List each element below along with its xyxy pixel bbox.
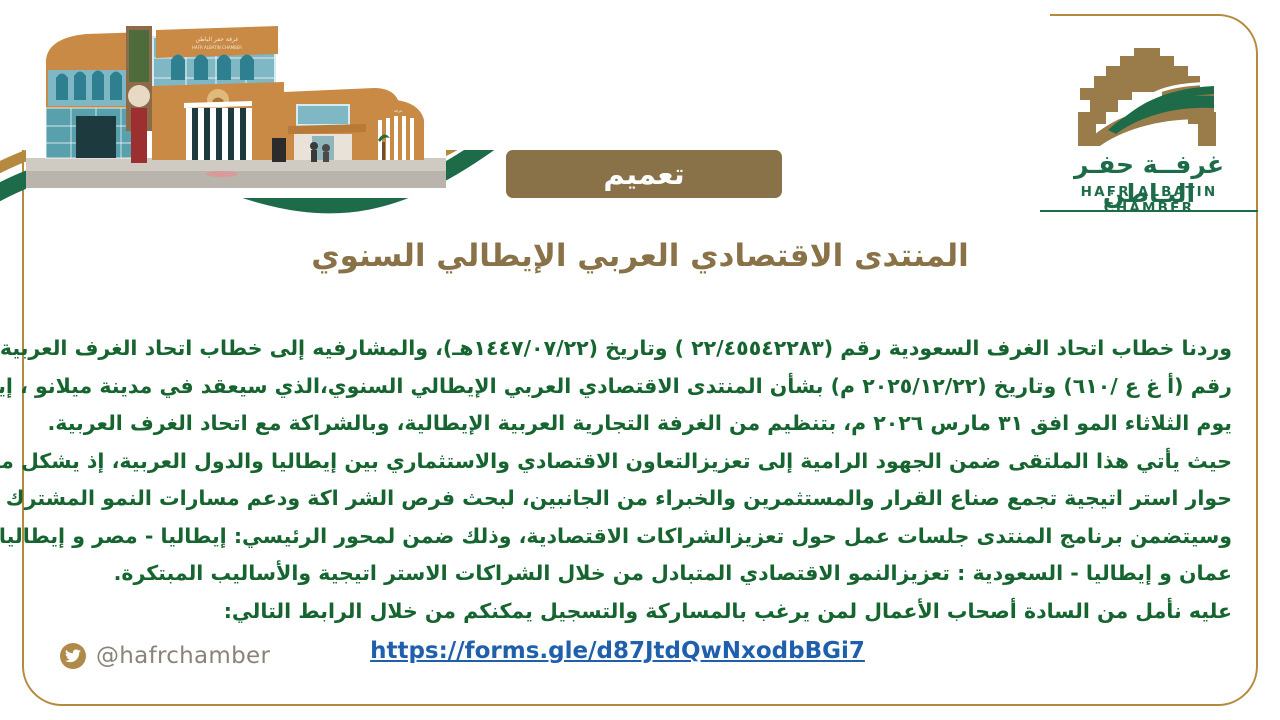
- chamber-logo-mark-icon: [1064, 42, 1234, 152]
- twitter-bird-icon: [60, 643, 86, 669]
- chamber-logo: غرفــة حفـر البـاطن HAFR ALBATIN CHAMBER: [1036, 42, 1262, 202]
- body-line: يوم الثلاثاء المو افق ٣١ مارس ٢٠٢٦ م، بت…: [48, 405, 1232, 443]
- body-line: عمان و إيطاليا - السعودية : تعزيزالنمو ا…: [48, 555, 1232, 593]
- document-body: وردنا خطاب اتحاد الغرف السعودية رقم (٢٢/…: [48, 330, 1232, 630]
- twitter-handle-text: @hafrchamber: [96, 643, 270, 669]
- svg-text:HAFR ALBATIN CHAMBER: HAFR ALBATIN CHAMBER: [192, 45, 242, 50]
- body-line: رقم (أ غ ع /٦١٠) وتاريخ (٢٠٢٥/١٢/٢٢ م) ب…: [48, 368, 1232, 406]
- body-line: عليه نأمل من السادة أصحاب الأعمال لمن ير…: [48, 593, 1232, 631]
- document-title: المنتدى الاقتصادي العربي الإيطالي السنوي: [0, 238, 1280, 274]
- circular-banner-label: تعميم: [603, 160, 684, 189]
- chamber-building-photo: غرفة حفر الباطن HAFR ALBATIN CHAMBER: [0, 0, 470, 200]
- body-line: وسيتضمن برنامج المنتدى جلسات عمل حول تعز…: [48, 518, 1232, 556]
- circular-banner: تعميم: [506, 150, 782, 198]
- chamber-logo-english-name: HAFR ALBATIN CHAMBER: [1036, 184, 1262, 216]
- svg-text:غرفة حفر الباطن: غرفة حفر الباطن: [196, 36, 239, 43]
- circular-document: غرفة حفر الباطن HAFR ALBATIN CHAMBER: [0, 0, 1280, 720]
- svg-text:غرفة: غرفة: [394, 108, 402, 113]
- twitter-handle-group[interactable]: @hafrchamber: [60, 643, 270, 669]
- body-line: حوار استر اتيجية تجمع صناع القرار والمست…: [48, 480, 1232, 518]
- body-line: حيث يأتي هذا الملتقى ضمن الجهود الرامية …: [48, 443, 1232, 481]
- body-line: وردنا خطاب اتحاد الغرف السعودية رقم (٢٢/…: [48, 330, 1232, 368]
- registration-link[interactable]: https://forms.gle/d87JtdQwNxodbBGi7: [370, 638, 865, 664]
